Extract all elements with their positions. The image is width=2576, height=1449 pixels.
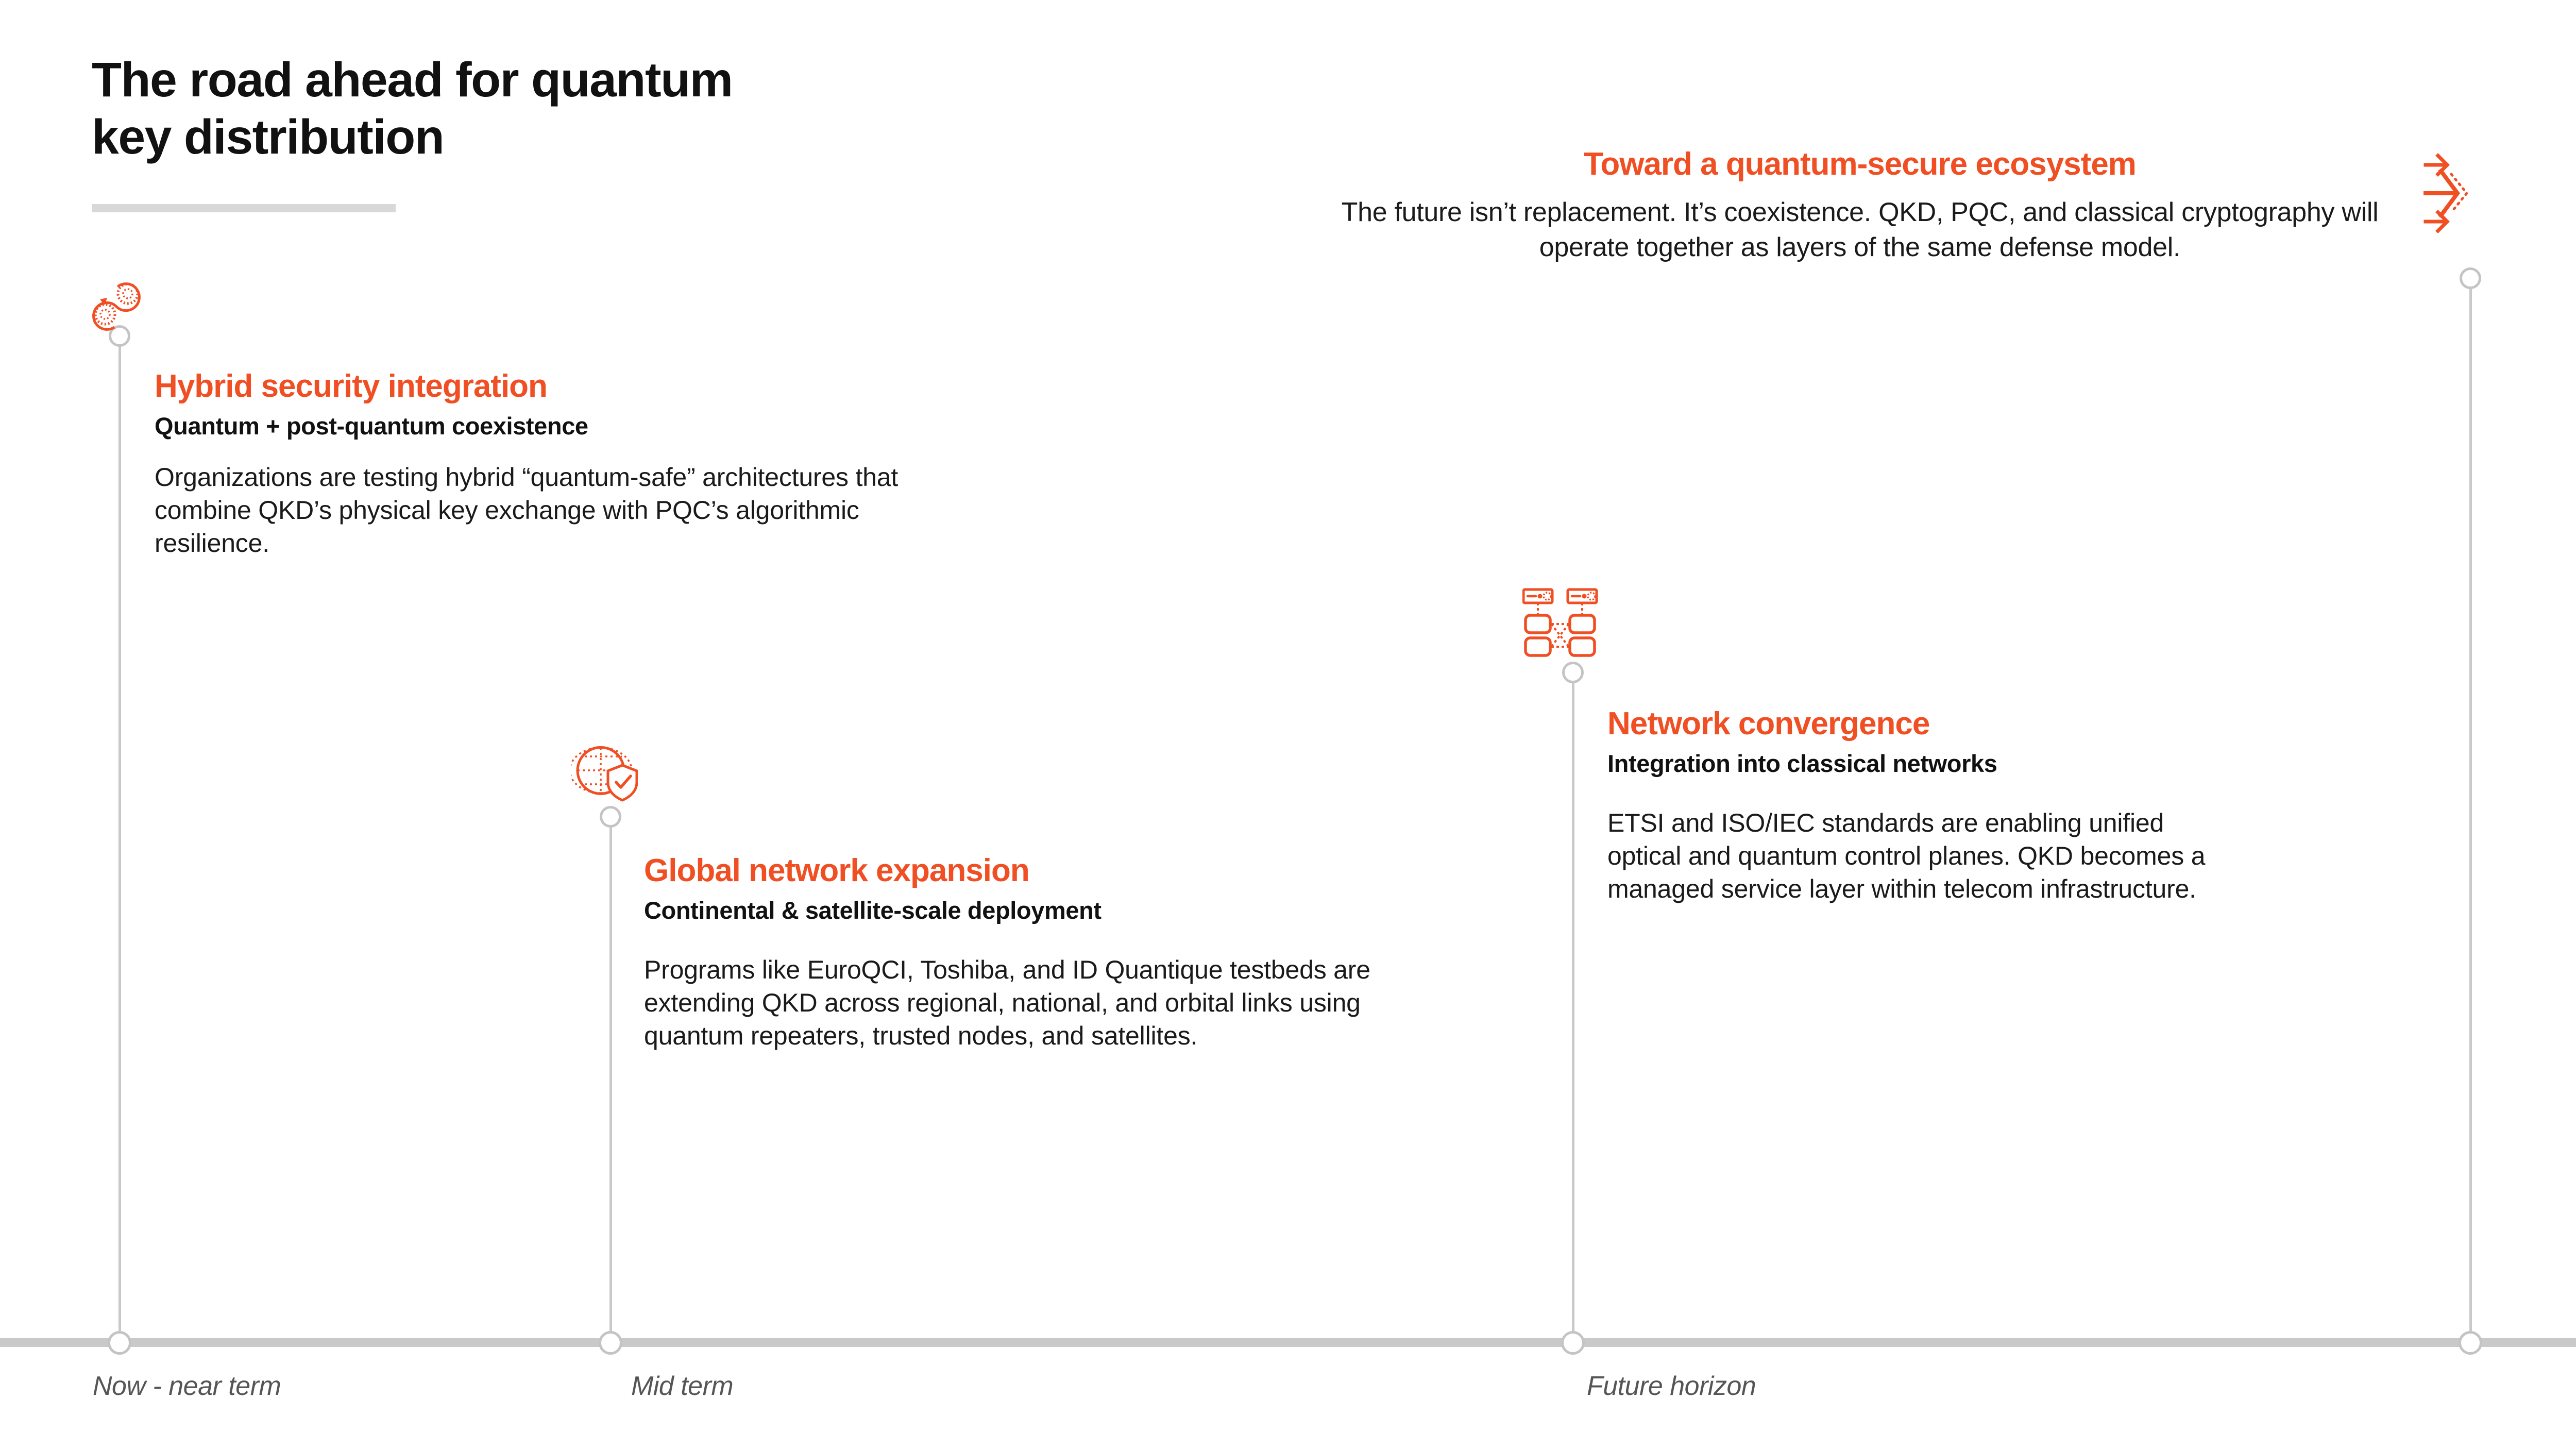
milestone-block-global-network-expansion: Global network expansion Continental & s…: [644, 853, 1468, 1052]
milestone-heading: Hybrid security integration: [155, 368, 999, 404]
summary-heading: Toward a quantum-secure ecosystem: [1303, 147, 2416, 182]
milestone-body: ETSI and ISO/IEC standards are enabling …: [1607, 806, 2241, 905]
timeline-connector-2: [609, 817, 612, 1338]
timeline-connector-1: [118, 336, 121, 1338]
milestone-subheading: Integration into classical networks: [1607, 749, 2380, 778]
timeline-connector-dot-3: [1562, 662, 1584, 683]
timeline-connector-dot-2: [600, 806, 621, 828]
timeline-connector-3: [1572, 672, 1574, 1338]
title-underline-rule: [92, 204, 396, 212]
milestone-heading: Network convergence: [1607, 706, 2380, 742]
timeline-node-4[interactable]: [2459, 1331, 2482, 1355]
axis-label-mid-term: Mid term: [631, 1371, 733, 1402]
summary-block-quantum-secure-ecosystem: Toward a quantum-secure ecosystem The fu…: [1303, 147, 2416, 265]
network-topology-icon: [1522, 587, 1600, 660]
timeline-connector-4: [2469, 278, 2472, 1338]
milestone-subheading: Quantum + post-quantum coexistence: [155, 411, 999, 441]
page-title: The road ahead for quantum key distribut…: [92, 52, 968, 166]
entangled-qubits-icon: [82, 276, 149, 332]
axis-label-future-horizon: Future horizon: [1587, 1371, 1756, 1402]
timeline-connector-dot-4: [2460, 267, 2481, 289]
timeline-node-3[interactable]: [1561, 1331, 1585, 1355]
milestone-body: Organizations are testing hybrid “quantu…: [155, 461, 974, 560]
milestone-block-hybrid-security-integration: Hybrid security integration Quantum + po…: [155, 368, 999, 560]
timeline-node-2[interactable]: [599, 1331, 622, 1355]
timeline-axis: [0, 1338, 2576, 1347]
infographic-canvas: The road ahead for quantum key distribut…: [0, 0, 2576, 1449]
milestone-block-network-convergence: Network convergence Integration into cla…: [1607, 706, 2380, 905]
milestone-subheading: Continental & satellite-scale deployment: [644, 896, 1262, 925]
timeline-node-1[interactable]: [108, 1331, 131, 1355]
milestone-heading: Global network expansion: [644, 853, 1468, 888]
milestone-body: Programs like EuroQCI, Toshiba, and ID Q…: [644, 953, 1458, 1052]
globe-shield-check-icon: [571, 742, 638, 804]
axis-label-now-near-term: Now - near term: [93, 1371, 281, 1402]
page-title-block: The road ahead for quantum key distribut…: [92, 52, 968, 166]
three-arrows-forward-icon: [2422, 149, 2500, 237]
summary-body: The future isn’t replacement. It’s coexi…: [1303, 195, 2416, 265]
